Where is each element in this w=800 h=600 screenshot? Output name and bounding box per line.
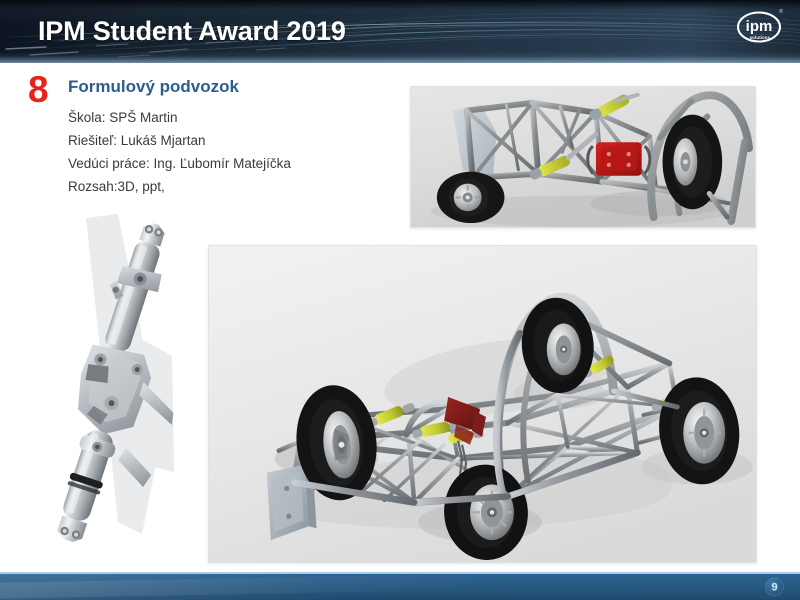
svg-text:solutions: solutions [750, 35, 771, 40]
svg-text:ipm: ipm [746, 18, 773, 35]
detail-line-supervisor: Vedúci práce: Ing. Ľubomír Matejíčka [68, 152, 398, 175]
chassis-rear-view-render [411, 87, 755, 227]
entry-title: Formulový podvozok [68, 77, 239, 97]
detail-line-school: Škola: SPŠ Martin [68, 106, 398, 129]
slide-canvas: IPM Student Award 2019 ipm solutions ® 8… [0, 0, 800, 600]
entry-details: Škola: SPŠ Martin Riešiteľ: Lukáš Mjarta… [68, 106, 398, 198]
chassis-full-view-render [209, 246, 756, 562]
detail-line-scope: Rozsah:3D, ppt, [68, 175, 398, 198]
entry-number: 8 [28, 71, 48, 108]
slide-footer-bar: 9 [0, 572, 800, 600]
page-title: IPM Student Award 2019 [38, 16, 346, 47]
page-number-badge: 9 [765, 578, 784, 597]
suspension-strut-photo [22, 204, 200, 560]
chassis-rear-view-photo [410, 86, 756, 228]
chassis-full-view-photo [208, 245, 757, 563]
detail-line-author: Riešiteľ: Lukáš Mjartan [68, 129, 398, 152]
ipm-logo[interactable]: ipm solutions ® [734, 5, 786, 51]
suspension-strut-render [22, 204, 200, 560]
svg-text:®: ® [779, 8, 783, 15]
slide-header-banner: IPM Student Award 2019 ipm solutions ® [0, 0, 800, 63]
